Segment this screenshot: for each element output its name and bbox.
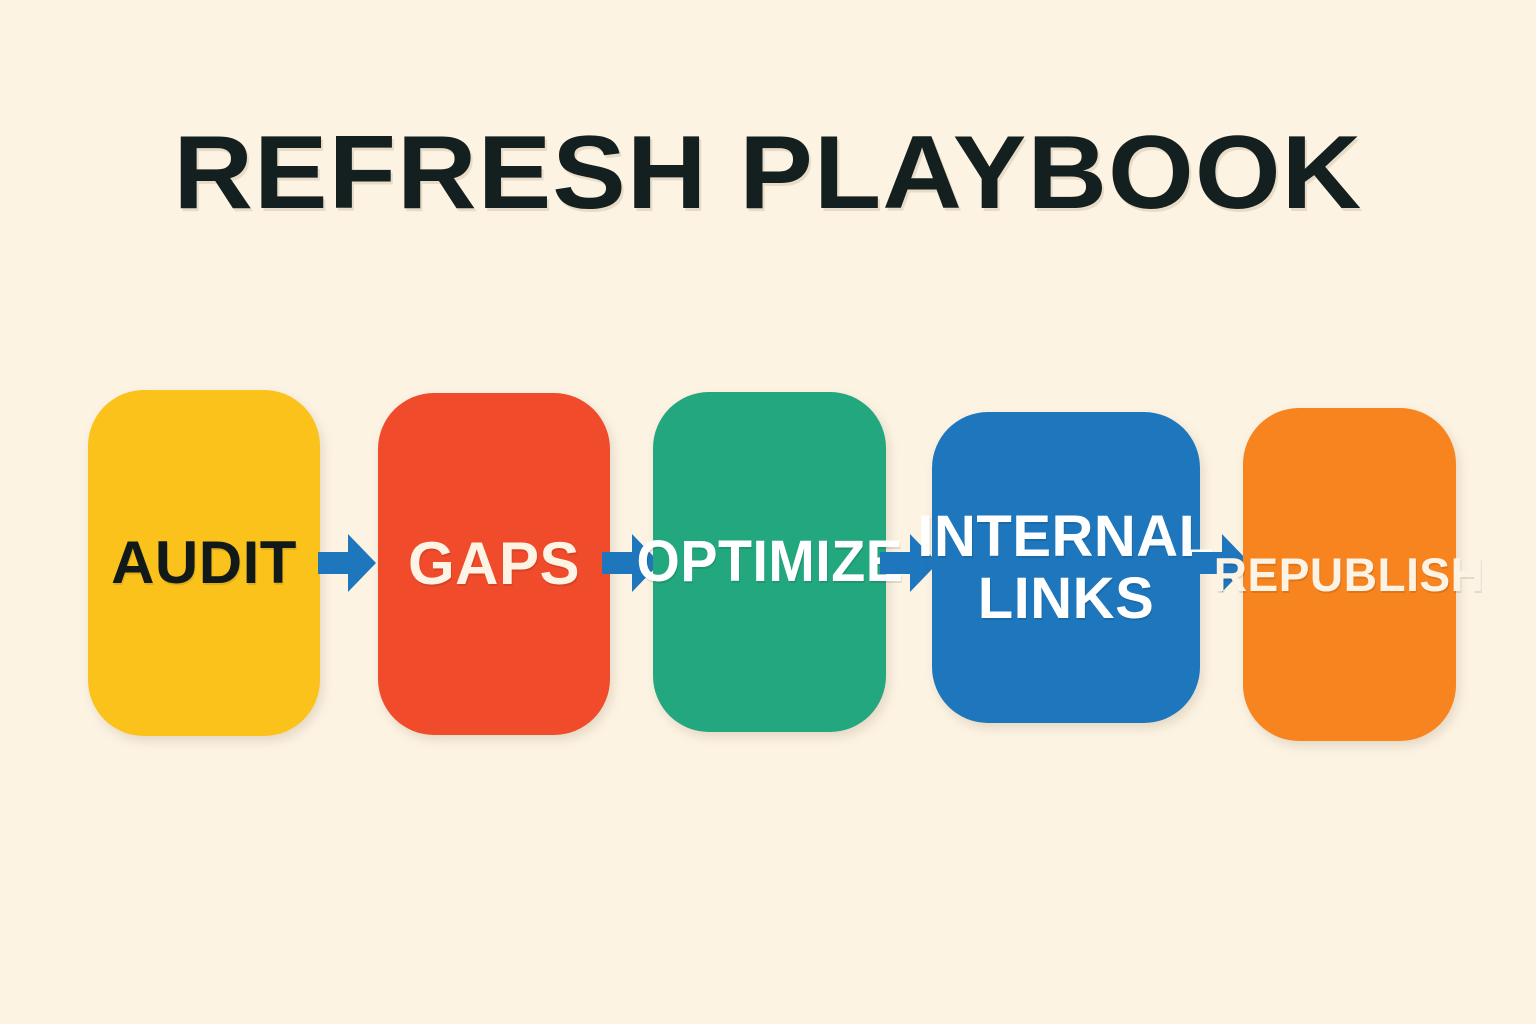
flow-step-optimize[interactable]: OPTIMIZE [653,392,886,732]
flow-step-audit[interactable]: AUDIT [88,390,320,736]
flow-step-label: AUDIT [105,531,303,595]
flow-step-label: INTERNAL LINKS [911,506,1220,629]
right-arrow-icon [318,528,376,598]
flow-step-republish[interactable]: REPUBLISH [1243,408,1456,741]
flow-step-label: REPUBLISH [1208,550,1490,600]
flow-step-internal-links[interactable]: INTERNAL LINKS [932,412,1200,723]
flow-step-label: OPTIMIZE [630,531,908,592]
flow-step-label: GAPS [402,532,586,596]
flow-step-gaps[interactable]: GAPS [378,393,610,735]
process-flow: AUDIT GAPS OPTIMIZE INTERNAL LIN [0,0,1536,1024]
diagram-canvas: REFRESH PLAYBOOK AUDIT GAPS OPTIMIZE [0,0,1536,1024]
